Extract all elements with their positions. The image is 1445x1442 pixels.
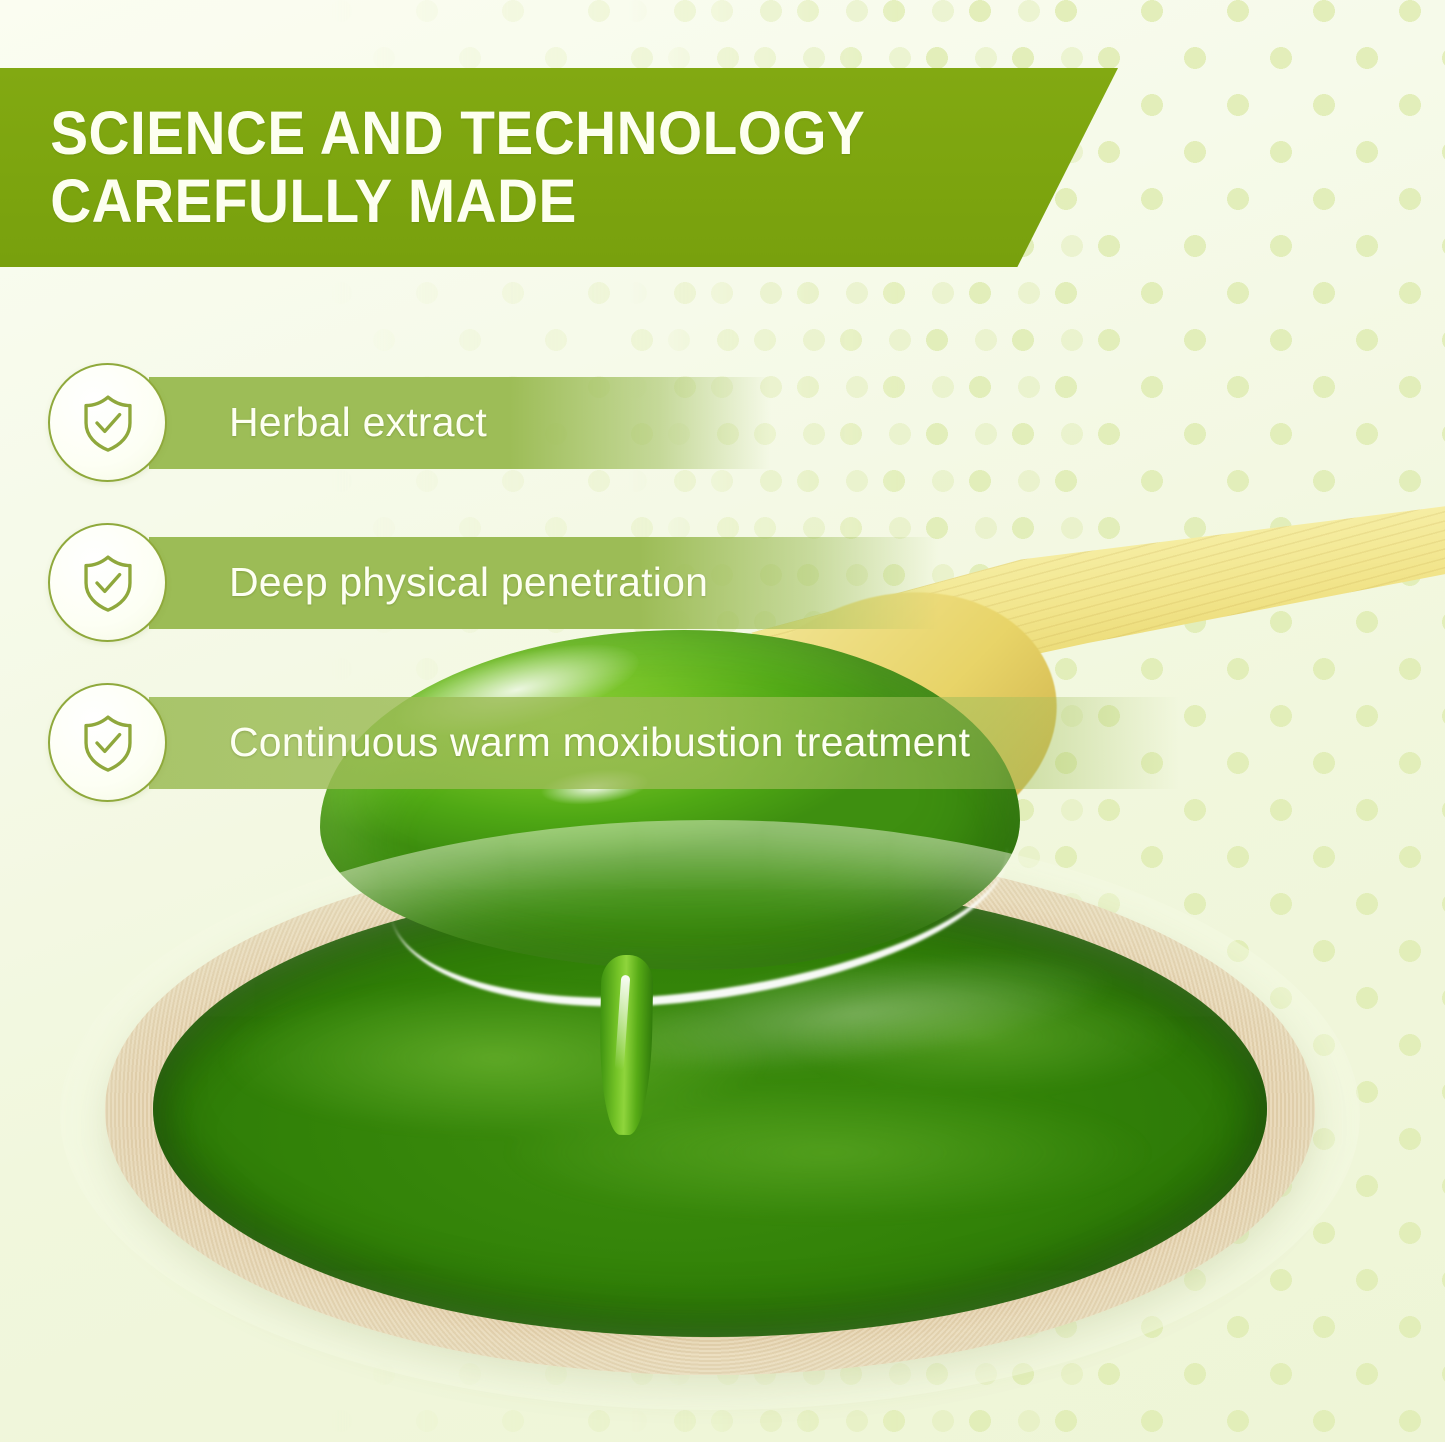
shield-check-icon [77,552,139,614]
shield-check-badge [48,683,167,802]
feature-item-continuous-warm-moxibustion-treatment: Continuous warm moxibustion treatment [48,683,1179,802]
feature-label: Herbal extract [229,399,487,446]
feature-label-bar: Deep physical penetration [149,537,939,629]
feature-label: Continuous warm moxibustion treatment [229,719,970,766]
shield-check-badge [48,523,167,642]
feature-item-herbal-extract: Herbal extract [48,363,771,482]
feature-label-bar: Continuous warm moxibustion treatment [149,697,1179,789]
shield-check-icon [77,392,139,454]
product-feature-page: SCIENCE AND TECHNOLOGY CAREFULLY MADE He… [0,0,1445,1442]
feature-list: Herbal extract Deep physical penetration [0,0,1445,1442]
feature-label-bar: Herbal extract [149,377,771,469]
feature-item-deep-physical-penetration: Deep physical penetration [48,523,939,642]
shield-check-icon [77,712,139,774]
shield-check-badge [48,363,167,482]
feature-label: Deep physical penetration [229,559,708,606]
